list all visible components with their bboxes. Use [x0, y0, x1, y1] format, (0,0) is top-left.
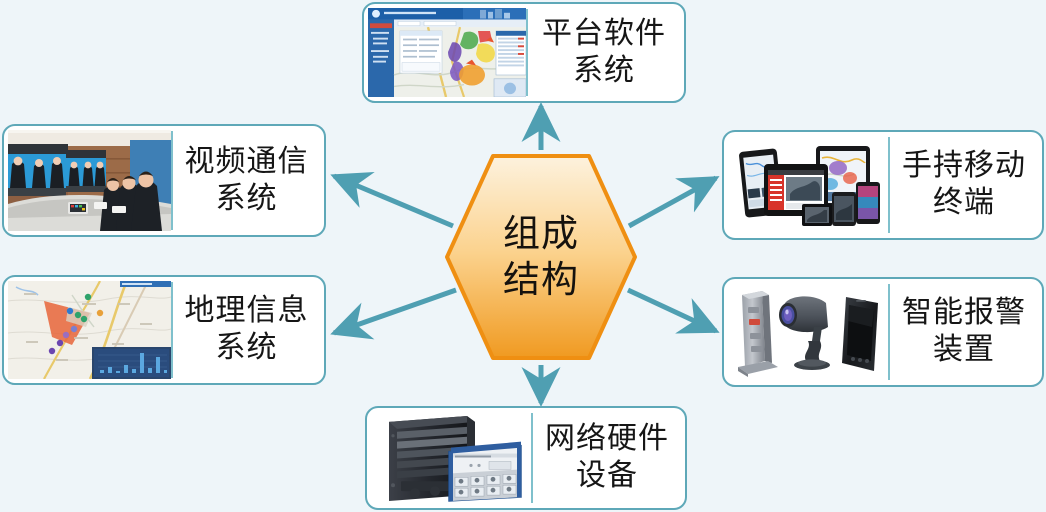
- arrow-to-alarm: [628, 290, 716, 331]
- node-network-hardware[interactable]: 网络硬件 设备: [365, 406, 687, 510]
- node-gis-label: 地理信息 系统: [173, 281, 320, 379]
- node-video-communication[interactable]: 视频通信 系统: [2, 124, 326, 237]
- label-line2: 系统: [573, 53, 635, 90]
- label-line1: 地理信息: [185, 293, 309, 330]
- label-line2: 装置: [933, 332, 995, 369]
- label-line2: 系统: [216, 330, 278, 367]
- gis-map-screenshot: [8, 281, 171, 379]
- node-alarm-devices[interactable]: 智能报警 装置: [722, 277, 1044, 387]
- node-mobile-label: 手持移动 终端: [890, 136, 1038, 234]
- label-line1: 网络硬件: [545, 421, 669, 458]
- label-line1: 智能报警: [902, 295, 1026, 332]
- node-gis[interactable]: 地理信息 系统: [2, 275, 326, 385]
- hub-label: 组成 结构: [445, 152, 637, 362]
- hub-node[interactable]: 组成 结构: [445, 152, 637, 362]
- node-network-label: 网络硬件 设备: [533, 412, 681, 504]
- node-platform-label: 平台软件 系统: [528, 8, 680, 97]
- label-line2: 终端: [933, 185, 995, 222]
- platform-software-screenshot: [368, 8, 526, 97]
- network-switch-hardware-photo: [371, 412, 531, 504]
- label-line2: 系统: [216, 181, 278, 218]
- node-mobile-terminals[interactable]: 手持移动 终端: [722, 130, 1044, 240]
- alarm-pillar-camera-phone-photo: [728, 283, 888, 381]
- label-line1: 平台软件: [542, 16, 666, 53]
- node-video-label: 视频通信 系统: [173, 130, 320, 231]
- node-platform-software[interactable]: 平台软件 系统: [362, 2, 686, 103]
- arrow-to-mobile: [629, 178, 716, 226]
- hub-label-line1: 组成: [503, 211, 579, 257]
- hub-label-line2: 结构: [503, 257, 579, 303]
- tablets-and-phones-photo: [728, 136, 888, 234]
- video-conference-room-photo: [8, 130, 171, 231]
- label-line1: 视频通信: [185, 144, 309, 181]
- label-line2: 设备: [576, 458, 638, 495]
- diagram-canvas: 组成 结构: [0, 0, 1046, 512]
- label-line1: 手持移动: [902, 148, 1026, 185]
- arrow-to-gis: [334, 290, 456, 333]
- arrow-to-video: [334, 176, 453, 226]
- node-alarm-label: 智能报警 装置: [890, 283, 1038, 381]
